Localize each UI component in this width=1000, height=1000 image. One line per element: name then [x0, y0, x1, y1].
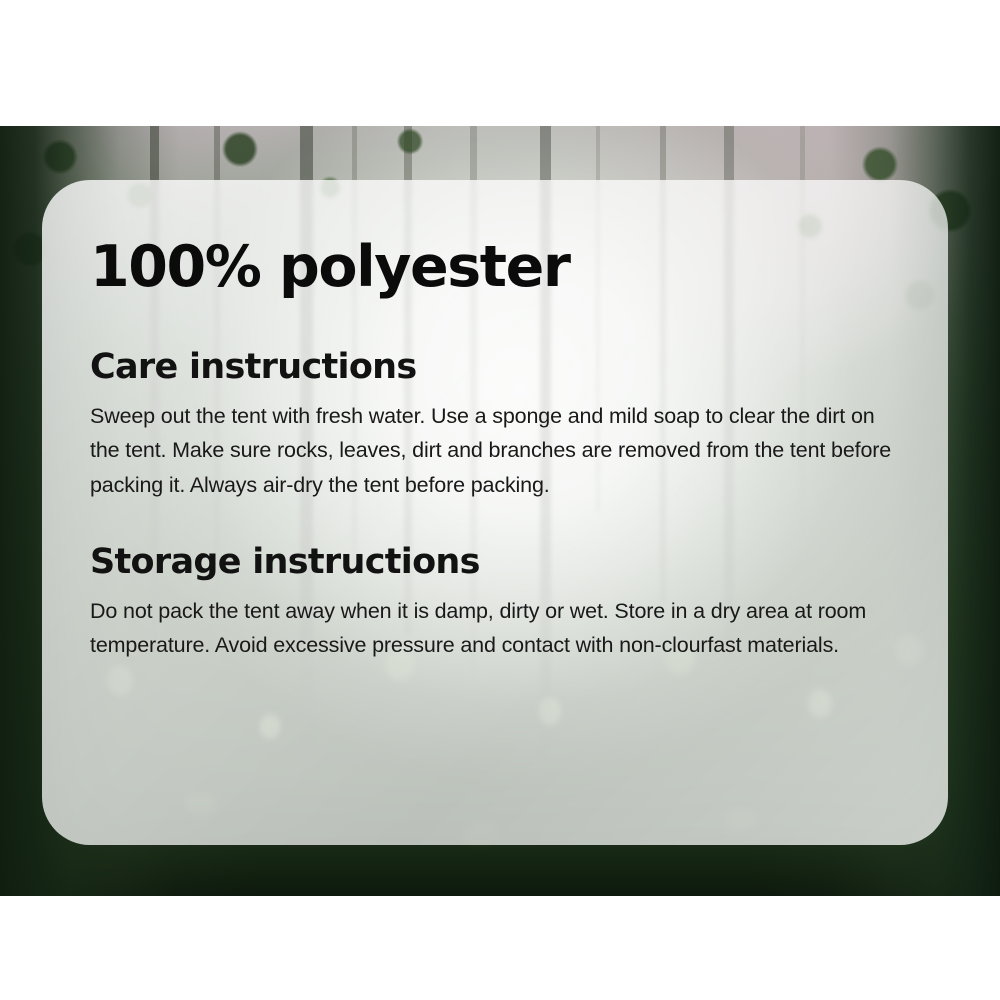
product-care-card: 100% polyester Care instructions Sweep o… [42, 180, 948, 845]
care-instructions-heading: Care instructions [90, 348, 900, 387]
page-title: 100% polyester [90, 238, 900, 296]
storage-instructions-text: Do not pack the tent away when it is dam… [90, 594, 900, 664]
care-instructions-text: Sweep out the tent with fresh water. Use… [90, 399, 900, 503]
storage-instructions-heading: Storage instructions [90, 543, 900, 582]
product-info-banner: 100% polyester Care instructions Sweep o… [0, 0, 1000, 1000]
storage-instructions-section: Storage instructions Do not pack the ten… [90, 543, 900, 663]
care-instructions-section: Care instructions Sweep out the tent wit… [90, 348, 900, 503]
